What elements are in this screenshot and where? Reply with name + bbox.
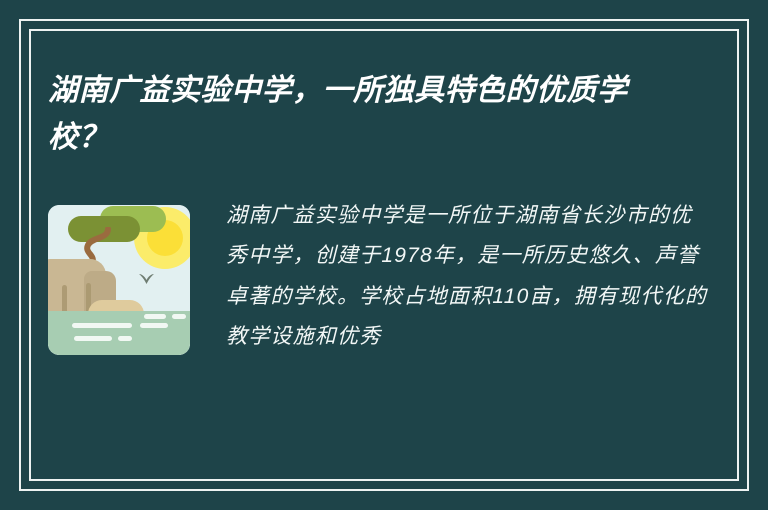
water-ripple bbox=[144, 314, 166, 319]
water-icon bbox=[48, 311, 190, 355]
bird-icon bbox=[138, 273, 155, 285]
water-ripple bbox=[140, 323, 168, 328]
illustration-container bbox=[48, 205, 190, 355]
water-ripple bbox=[74, 336, 112, 341]
water-ripple bbox=[118, 336, 132, 341]
water-ripple bbox=[72, 323, 132, 328]
article-body: 湖南广益实验中学是一所位于湖南省长沙市的优秀中学，创建于1978年，是一所历史悠… bbox=[190, 196, 708, 357]
water-ripple bbox=[172, 314, 186, 319]
article-content: 湖南广益实验中学是一所位于湖南省长沙市的优秀中学，创建于1978年，是一所历史悠… bbox=[48, 196, 708, 357]
landscape-illustration bbox=[48, 205, 190, 355]
page-title: 湖南广益实验中学，一所独具特色的优质学校？ bbox=[48, 68, 648, 161]
